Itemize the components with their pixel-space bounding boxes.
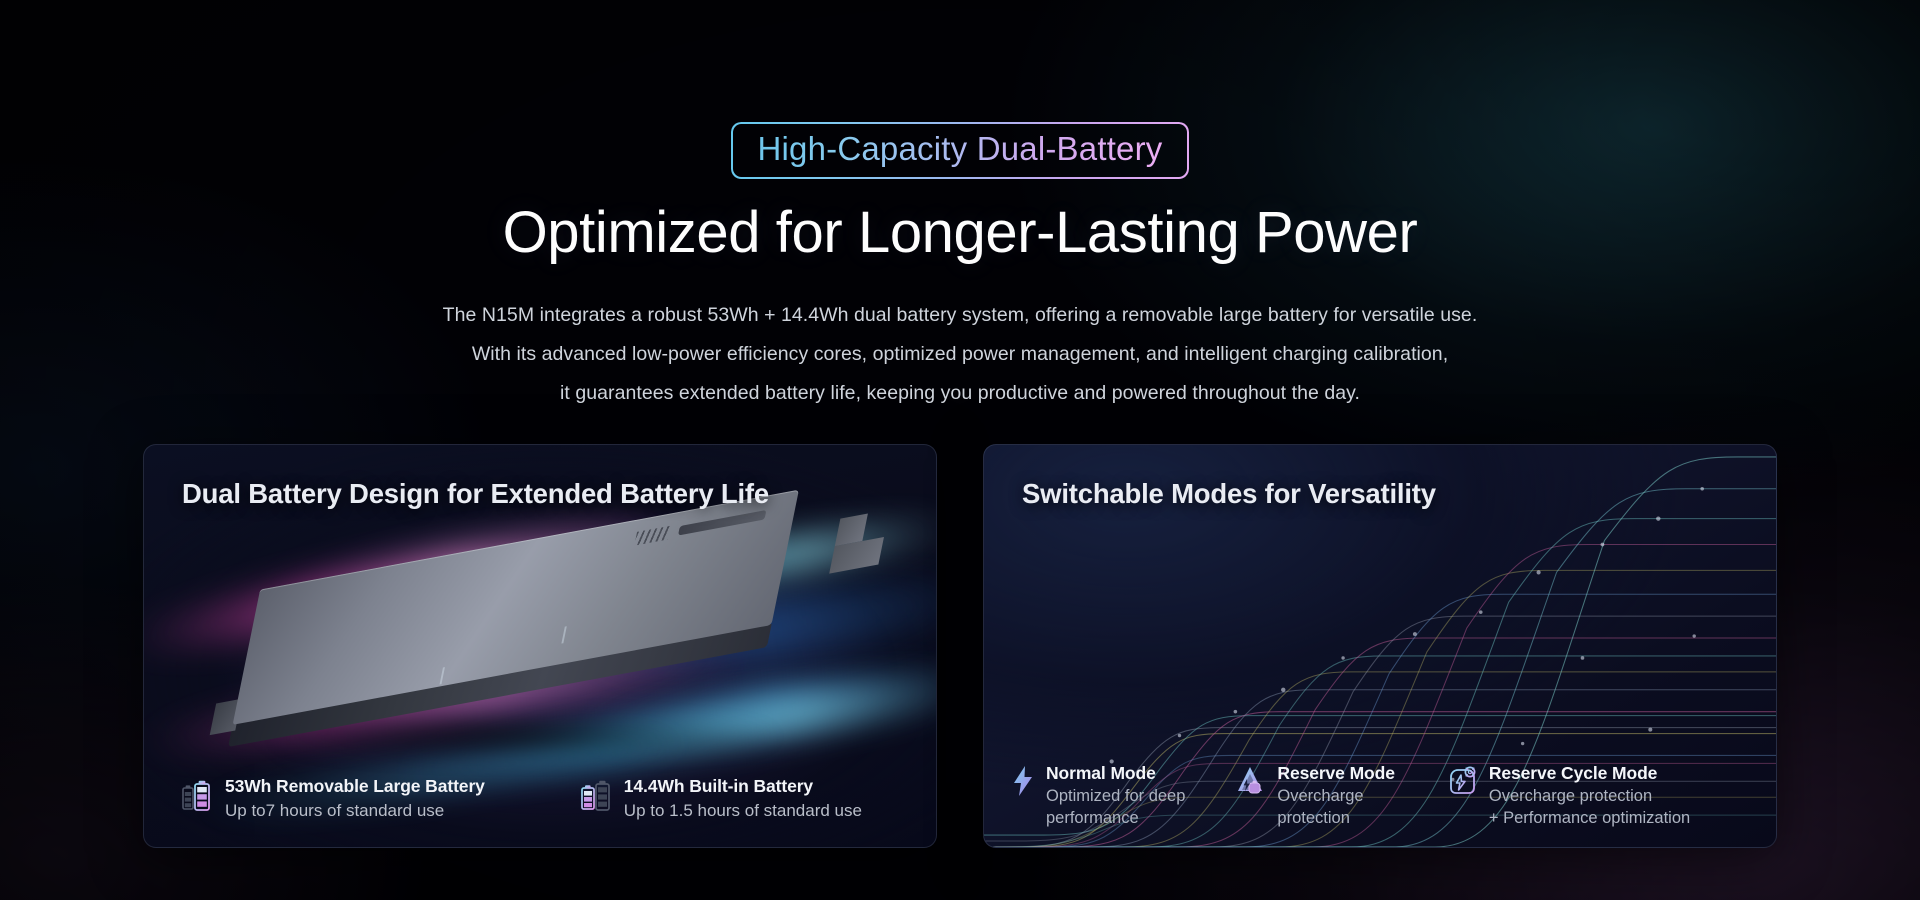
spec-subtitle: Up to 1.5 hours of standard use [624, 800, 862, 822]
eyebrow-badge-label: High-Capacity Dual-Battery [757, 130, 1162, 167]
eyebrow-badge: High-Capacity Dual-Battery [731, 122, 1188, 179]
spec-title: 53Wh Removable Large Battery [225, 775, 485, 797]
battery-gear-cycle-icon [1447, 765, 1479, 802]
card-switchable-modes[interactable]: Switchable Modes for Versatility Normal … [983, 444, 1777, 848]
mode-title: Reserve Cycle Mode [1489, 762, 1690, 785]
mode-item-reserve-cycle: Reserve Cycle Mode Overcharge protection… [1447, 762, 1690, 830]
lightning-bolt-icon [1010, 765, 1036, 802]
battery-specs-list: 53Wh Removable Large Battery Up to7 hour… [182, 775, 862, 821]
hero-section: High-Capacity Dual-Battery Optimized for… [0, 122, 1920, 413]
switchable-modes-list: Normal Mode Optimized for deep performan… [1010, 762, 1690, 830]
spec-title: 14.4Wh Built-in Battery [624, 775, 862, 797]
badge-container: High-Capacity Dual-Battery [0, 122, 1920, 179]
hero-description: The N15M integrates a robust 53Wh + 14.4… [0, 296, 1920, 413]
hero-description-line-2: With its advanced low-power efficiency c… [0, 335, 1920, 374]
mode-subtitle: Optimized for deep performance [1046, 786, 1185, 829]
page-title: Optimized for Longer-Lasting Power [0, 201, 1920, 266]
card-dual-battery-design[interactable]: Dual Battery Design for Extended Battery… [143, 444, 937, 848]
spec-item-large-battery: 53Wh Removable Large Battery Up to7 hour… [182, 775, 485, 821]
spec-subtitle: Up to7 hours of standard use [225, 800, 485, 822]
card-right-title: Switchable Modes for Versatility [1022, 478, 1436, 510]
page-root: High-Capacity Dual-Battery Optimized for… [0, 0, 1920, 900]
mode-title: Normal Mode [1046, 762, 1185, 785]
battery-product-image [214, 480, 850, 817]
mode-item-reserve: Reserve Mode Overcharge protection [1237, 762, 1394, 830]
card-left-title: Dual Battery Design for Extended Battery… [182, 478, 769, 510]
hero-description-line-3: it guarantees extended battery life, kee… [0, 374, 1920, 413]
mode-title: Reserve Mode [1277, 762, 1394, 785]
dual-battery-small-icon [581, 779, 611, 818]
mode-item-normal: Normal Mode Optimized for deep performan… [1010, 762, 1185, 830]
dual-battery-large-icon [182, 779, 212, 818]
mode-subtitle: Overcharge protection + Performance opti… [1489, 786, 1690, 829]
feature-cards-row: Dual Battery Design for Extended Battery… [143, 444, 1777, 848]
battery-shield-icon [1237, 765, 1267, 802]
mode-subtitle: Overcharge protection [1277, 786, 1394, 829]
hero-description-line-1: The N15M integrates a robust 53Wh + 14.4… [0, 296, 1920, 335]
spec-item-builtin-battery: 14.4Wh Built-in Battery Up to 1.5 hours … [581, 775, 862, 821]
battery-vents-icon [634, 526, 670, 546]
